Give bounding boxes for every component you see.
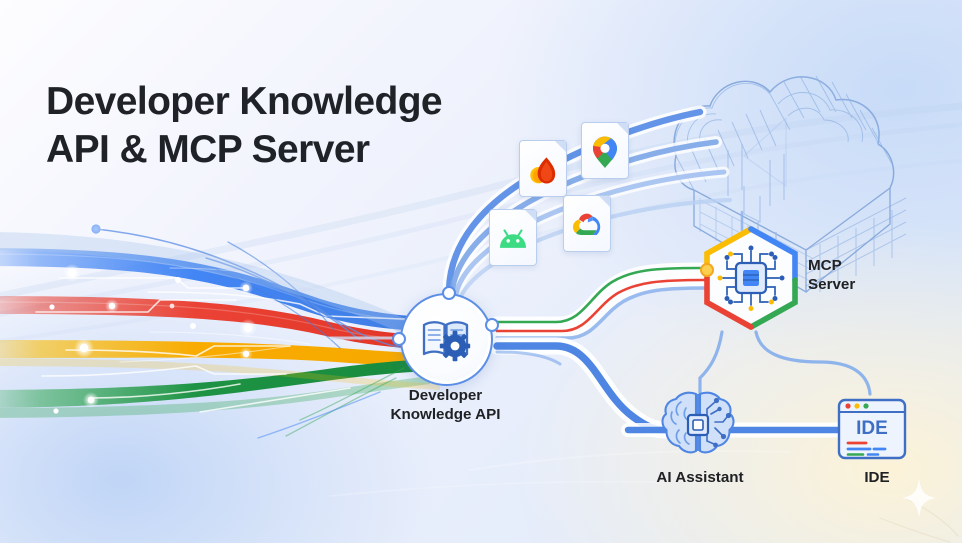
brain-circuit-icon <box>659 388 737 460</box>
doc-card-android[interactable] <box>489 209 537 266</box>
page-title: Developer Knowledge API & MCP Server <box>46 78 442 173</box>
port-api-left[interactable] <box>392 332 406 346</box>
mcp-to-ide-line <box>756 332 870 394</box>
doc-card-google-cloud[interactable] <box>563 195 611 252</box>
ide-window-icon: IDE <box>837 398 907 460</box>
node-label-ide: IDE <box>812 468 942 487</box>
titlebar-dots <box>845 403 868 408</box>
page-fold-icon <box>617 123 628 134</box>
doc-card-google-maps[interactable] <box>581 122 629 179</box>
node-mcp-server[interactable] <box>703 226 799 330</box>
node-ai-assistant[interactable] <box>659 388 737 460</box>
port-api-right[interactable] <box>485 318 499 332</box>
android-robot-icon <box>490 227 536 249</box>
open-book-gear-icon <box>421 316 473 364</box>
node-label-api: Developer Knowledge API <box>338 386 553 425</box>
page-fold-icon <box>555 141 566 152</box>
google-maps-pin-icon <box>582 135 628 168</box>
diagram-canvas: Developer Knowledge API & MCP Server <box>0 0 962 543</box>
ide-screen-text: IDE <box>856 418 888 439</box>
node-label-mcp-server: MCP Server <box>808 256 938 295</box>
google-cloud-icon <box>564 212 610 238</box>
port-api-top[interactable] <box>442 286 456 300</box>
mcp-to-ai-line <box>700 332 722 394</box>
node-ide[interactable]: IDE <box>837 398 907 460</box>
page-fold-icon <box>599 196 610 207</box>
node-developer-knowledge-api[interactable] <box>400 293 493 386</box>
port-mcp-left[interactable] <box>700 263 714 277</box>
node-label-ai-assistant: AI Assistant <box>615 468 785 487</box>
page-fold-icon <box>525 210 536 221</box>
firebase-flame-icon <box>520 155 566 185</box>
doc-card-firebase[interactable] <box>519 140 567 197</box>
